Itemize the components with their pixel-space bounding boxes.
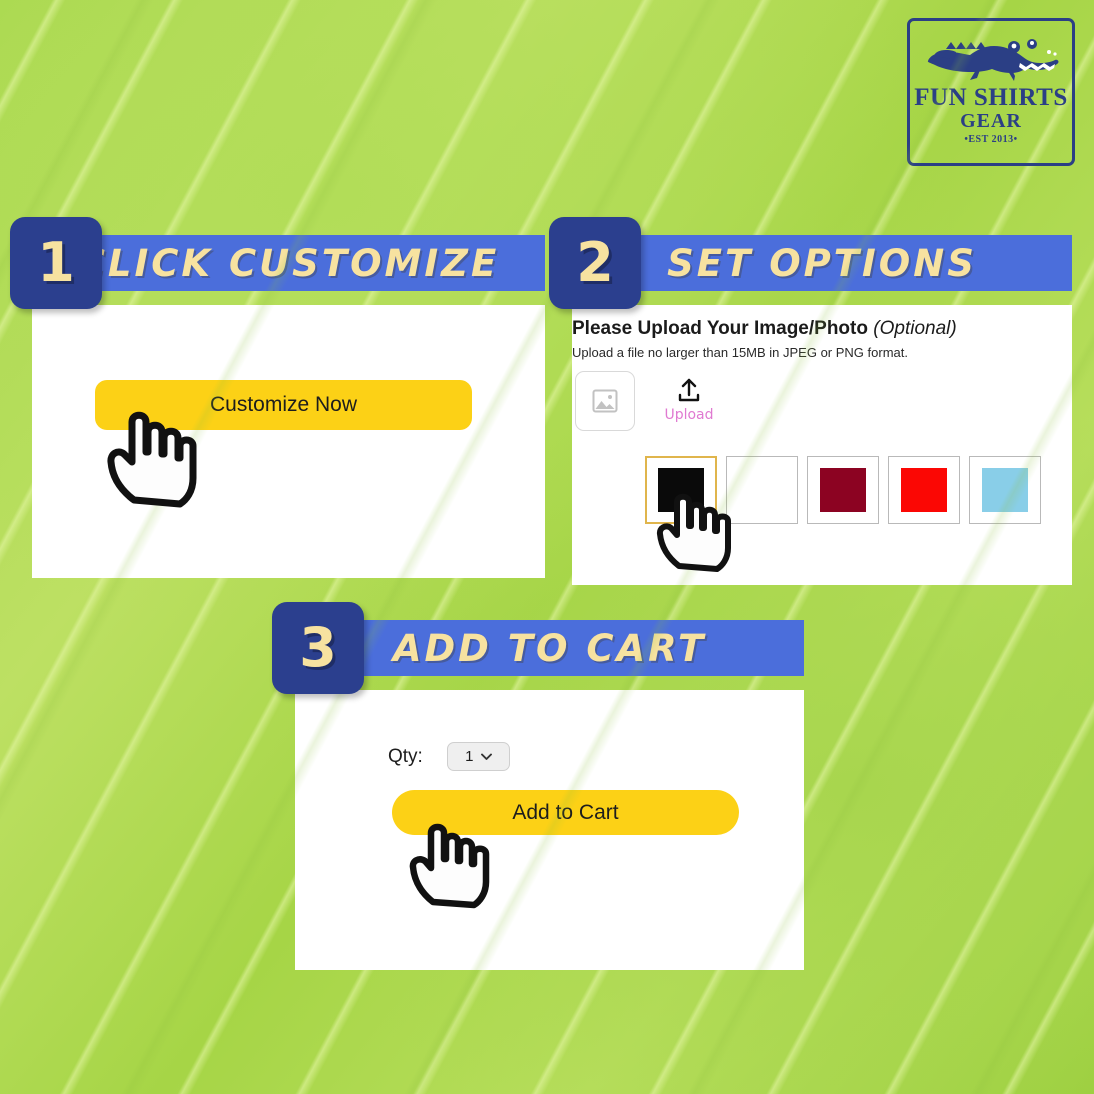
- brand-established: •EST 2013•: [964, 134, 1017, 145]
- brand-name-line1: FUN SHIRTS: [914, 85, 1067, 110]
- step-3-badge: 3: [272, 602, 364, 694]
- step-2-badge: 2: [549, 217, 641, 309]
- step-2-title: SET OPTIONS: [667, 242, 977, 285]
- color-swatch-row: [645, 456, 1041, 524]
- step-3-number: 3: [299, 621, 337, 675]
- step-1-number: 1: [37, 236, 75, 290]
- page-background: FUN SHIRTS GEAR •EST 2013• CLICK CUSTOMI…: [0, 0, 1094, 1094]
- swatch-maroon[interactable]: [807, 456, 879, 524]
- swatch-maroon-chip: [820, 468, 866, 512]
- quantity-value: 1: [465, 748, 473, 765]
- swatch-light-blue[interactable]: [969, 456, 1041, 524]
- upload-heading-text: Please Upload Your Image/Photo: [572, 318, 873, 339]
- customize-now-button[interactable]: Customize Now: [95, 380, 472, 430]
- quantity-label: Qty:: [388, 746, 423, 768]
- image-placeholder-icon: [592, 389, 618, 413]
- upload-heading-optional: (Optional): [873, 318, 956, 339]
- quantity-select[interactable]: 1: [447, 742, 510, 771]
- swatch-black-chip: [658, 468, 704, 512]
- upload-subtext: Upload a file no larger than 15MB in JPE…: [572, 345, 908, 360]
- swatch-white-chip: [739, 468, 785, 512]
- upload-heading: Please Upload Your Image/Photo (Optional…: [572, 318, 957, 340]
- step-1-panel: [32, 305, 545, 578]
- step-1-badge: 1: [10, 217, 102, 309]
- swatch-red[interactable]: [888, 456, 960, 524]
- chevron-down-icon: [481, 753, 492, 761]
- swatch-red-chip: [901, 468, 947, 512]
- step-1-title: CLICK CUSTOMIZE: [78, 242, 499, 285]
- upload-button[interactable]: Upload: [660, 378, 718, 423]
- swatch-light-blue-chip: [982, 468, 1028, 512]
- image-thumbnail-box[interactable]: [575, 371, 635, 431]
- swatch-white[interactable]: [726, 456, 798, 524]
- quantity-row: Qty: 1: [388, 742, 510, 771]
- brand-logo: FUN SHIRTS GEAR •EST 2013•: [907, 18, 1075, 166]
- upload-label: Upload: [664, 407, 713, 423]
- step-3-title: ADD TO CART: [393, 627, 706, 670]
- step-3-header: ADD TO CART: [295, 620, 804, 676]
- step-2-number: 2: [576, 236, 614, 290]
- add-to-cart-button[interactable]: Add to Cart: [392, 790, 739, 835]
- swatch-black[interactable]: [645, 456, 717, 524]
- step-2-header: SET OPTIONS: [572, 235, 1072, 291]
- upload-arrow-icon: [676, 378, 702, 404]
- brand-name-line2: GEAR: [960, 110, 1022, 132]
- alligator-icon: [916, 27, 1066, 83]
- step-1-header: CLICK CUSTOMIZE: [32, 235, 545, 291]
